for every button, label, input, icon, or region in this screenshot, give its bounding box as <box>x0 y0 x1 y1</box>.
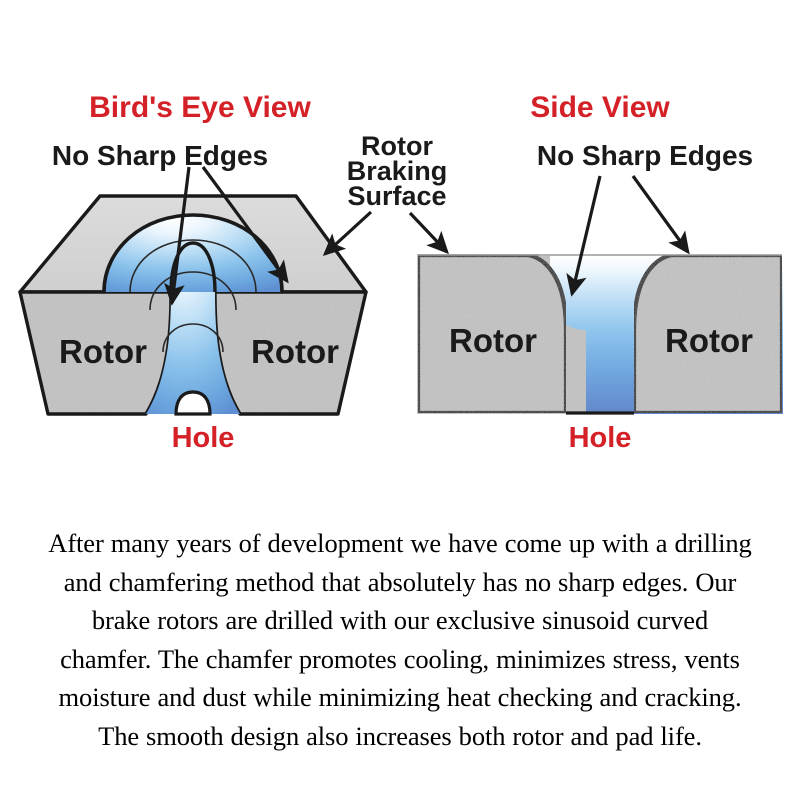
side-view-rotor-label-right: Rotor <box>665 322 753 359</box>
birds-eye-view-graphic: Rotor Rotor <box>20 196 366 414</box>
birds-eye-rotor-label-right: Rotor <box>251 333 339 370</box>
birds-eye-hole-opening <box>176 392 210 414</box>
caption-line-1: After many years of development we have … <box>8 524 792 563</box>
rotor-chamfer-diagram: Rotor Rotor Rotor Rotor <box>0 0 800 500</box>
caption-line-4: chamfer. The chamfer promotes cooling, m… <box>8 640 792 679</box>
caption-line-3: brake rotors are drilled with our exclus… <box>8 601 792 640</box>
arrow-rotor-braking-surface-right <box>410 213 447 252</box>
side-view-rotor-label-left: Rotor <box>449 322 537 359</box>
side-view-no-sharp-edges-label: No Sharp Edges <box>537 140 753 171</box>
birds-eye-hole-label: Hole <box>172 422 235 454</box>
birds-eye-rotor-label-left: Rotor <box>59 333 147 370</box>
birds-eye-view-title: Bird's Eye View <box>89 91 311 124</box>
caption-line-5: moisture and dust while minimizing heat … <box>8 678 792 717</box>
rotor-braking-surface-label-line3: Surface <box>347 181 446 211</box>
side-view-graphic: Rotor Rotor <box>417 254 783 414</box>
arrow-sv-no-sharp-edges-right <box>633 176 688 252</box>
arrow-rotor-braking-surface-left <box>325 212 371 254</box>
caption-paragraph: After many years of development we have … <box>8 524 792 755</box>
birds-eye-no-sharp-edges-label: No Sharp Edges <box>52 140 268 171</box>
side-view-title: Side View <box>530 91 670 124</box>
diagram-page: Rotor Rotor Rotor Rotor <box>0 0 800 800</box>
caption-line-6: The smooth design also increases both ro… <box>8 717 792 756</box>
caption-line-2: and chamfering method that absolutely ha… <box>8 563 792 602</box>
side-view-hole-label: Hole <box>569 422 632 454</box>
